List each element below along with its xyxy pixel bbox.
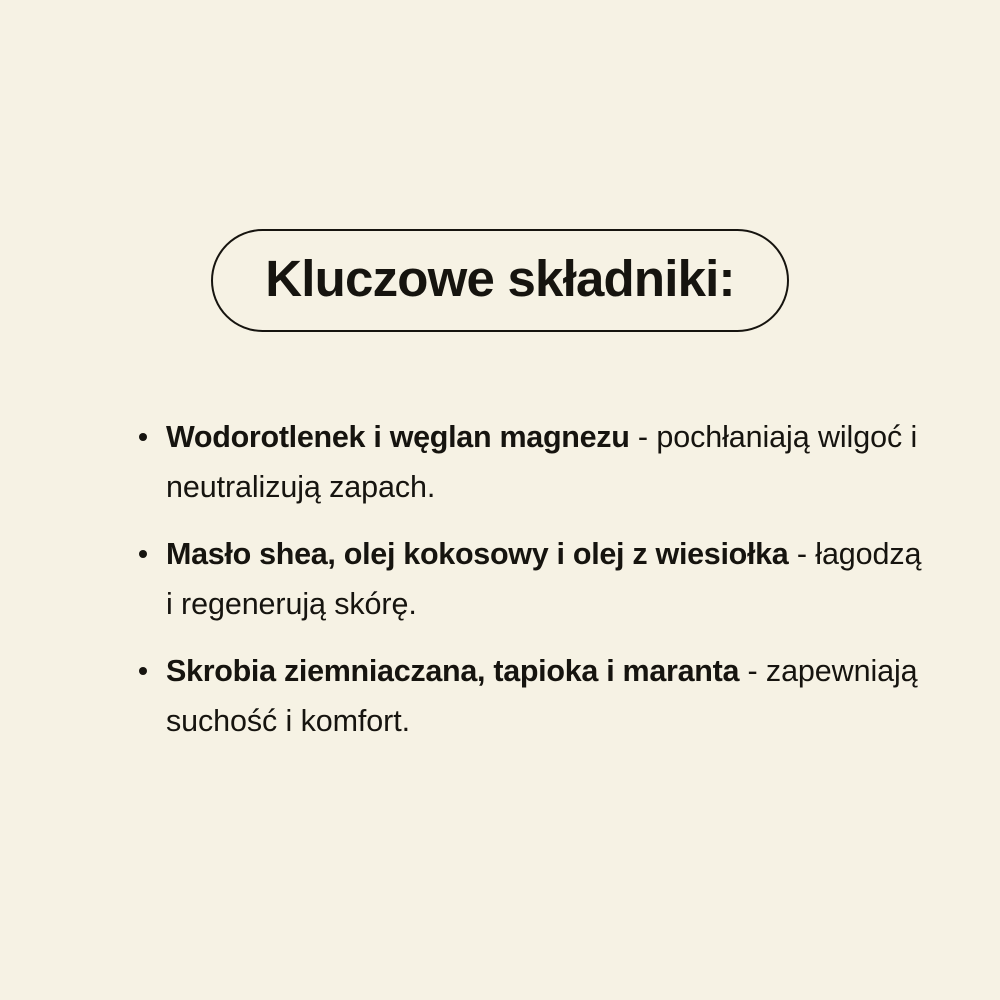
- bullet-dot-icon: [139, 433, 147, 441]
- page-title: Kluczowe składniki:: [265, 253, 734, 304]
- list-item: Wodorotlenek i węglan magnezu - pochłani…: [136, 412, 926, 512]
- ingredient-separator: -: [630, 420, 657, 454]
- ingredient-name: Masło shea, olej kokosowy i olej z wiesi…: [166, 537, 788, 571]
- bullet-dot-icon: [139, 550, 147, 558]
- list-item: Masło shea, olej kokosowy i olej z wiesi…: [136, 529, 926, 629]
- ingredient-separator: -: [739, 654, 766, 688]
- ingredient-separator: -: [788, 537, 815, 571]
- ingredients-list: Wodorotlenek i węglan magnezu - pochłani…: [136, 412, 926, 746]
- list-item: Skrobia ziemniaczana, tapioka i maranta …: [136, 646, 926, 746]
- bullet-dot-icon: [139, 667, 147, 675]
- title-pill: Kluczowe składniki:: [211, 229, 788, 332]
- ingredient-name: Skrobia ziemniaczana, tapioka i maranta: [166, 654, 739, 688]
- ingredient-name: Wodorotlenek i węglan magnezu: [166, 420, 630, 454]
- title-pill-container: Kluczowe składniki:: [0, 229, 1000, 332]
- ingredients-slide: Kluczowe składniki: Wodorotlenek i węgla…: [0, 0, 1000, 1000]
